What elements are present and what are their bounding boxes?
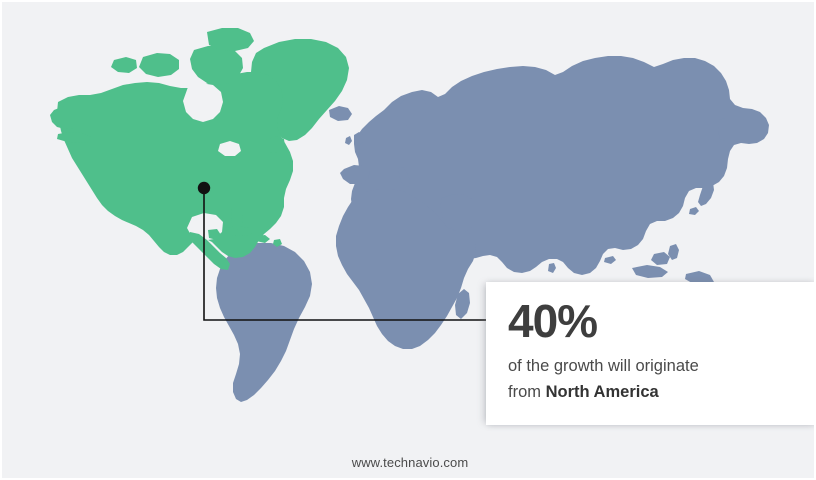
callout-box: 40% of the growth will originate from No… [486,282,816,425]
footer-bar: www.technavio.com [2,442,816,480]
footer-url-text: www.technavio.com [352,455,469,470]
callout-line-2-prefix: from [508,383,546,401]
infographic-root: 40% of the growth will originate from No… [0,0,816,480]
callout-line-1: of the growth will originate [508,357,699,375]
callout-region-name: North America [546,383,659,401]
callout-description: of the growth will originate from North … [508,354,816,405]
callout-percentage: 40% [508,298,816,345]
